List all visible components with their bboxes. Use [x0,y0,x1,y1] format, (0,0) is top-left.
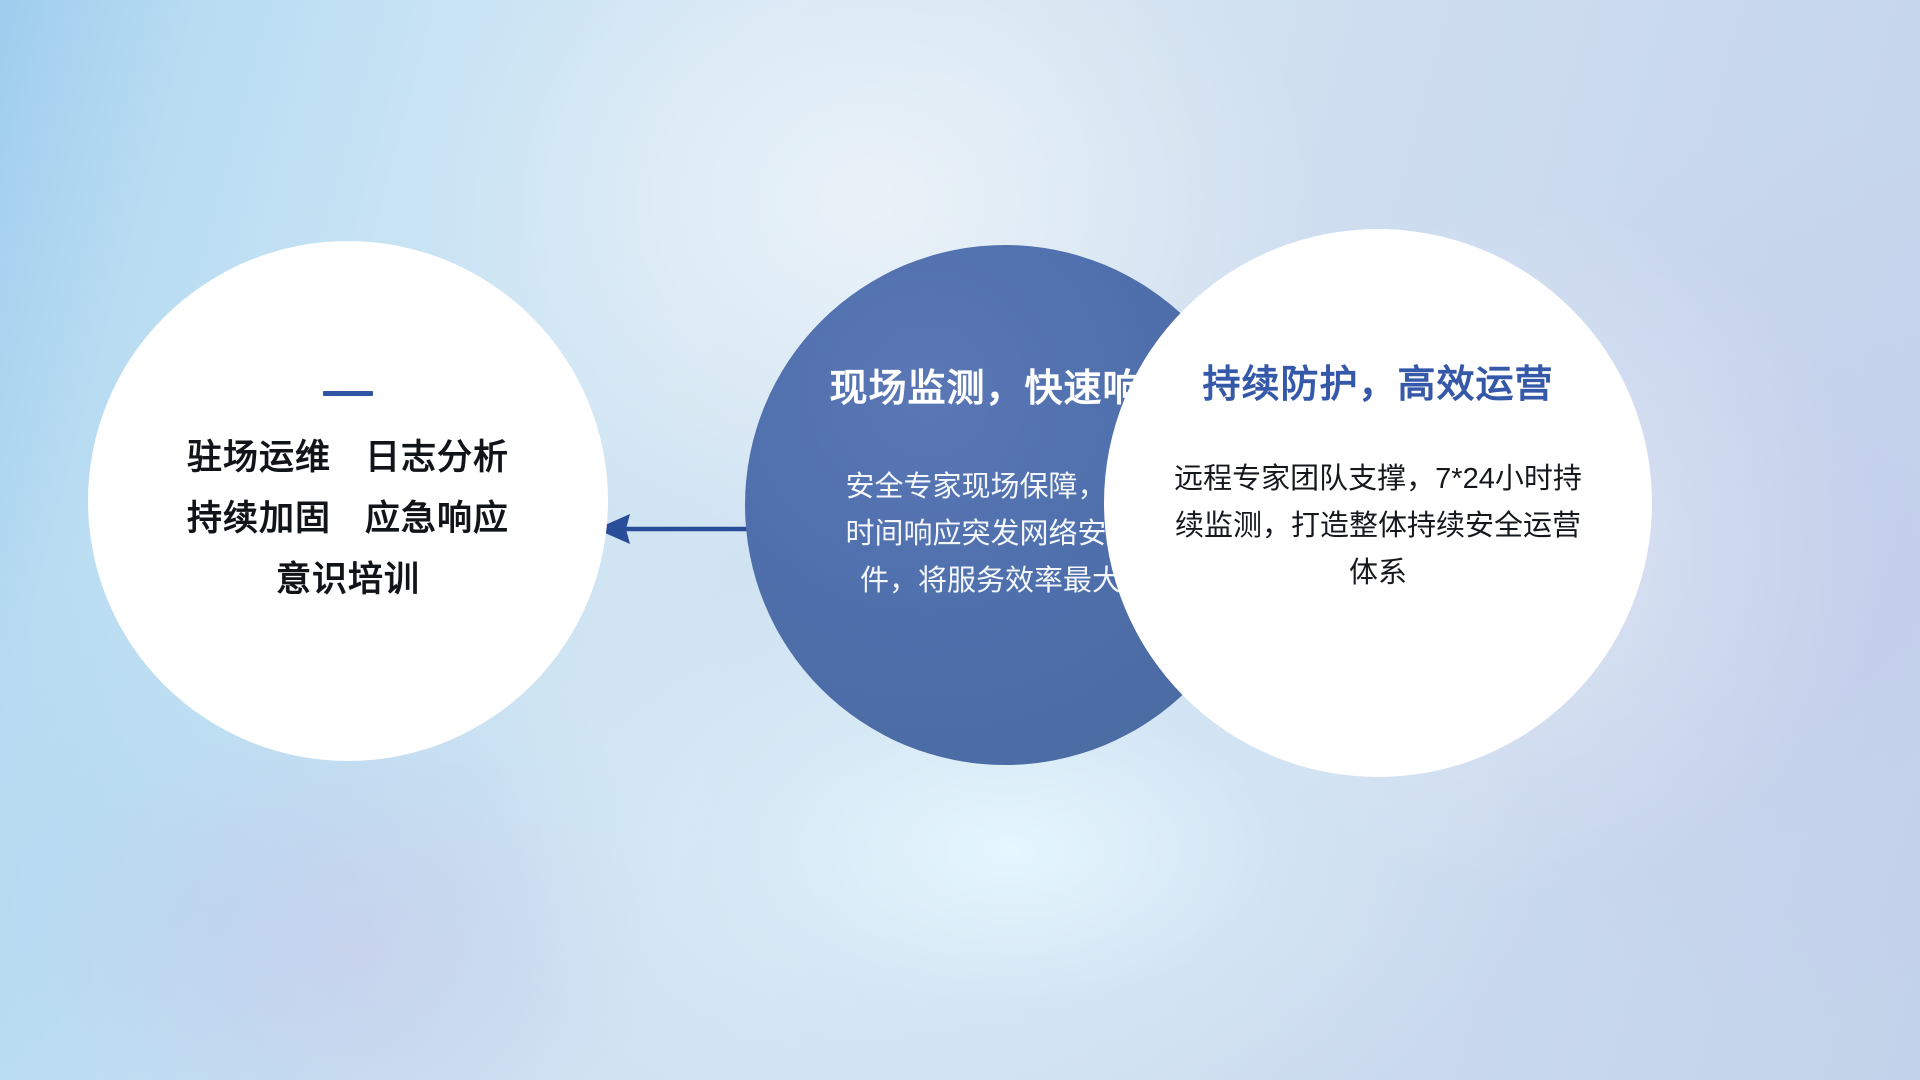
continuous-protection-circle: 持续防护，高效运营 远程专家团队支撑，7*24小时持续监测，打造整体持续安全运营… [1104,229,1652,777]
keyword-item: 意识培训 [276,562,420,597]
slide-canvas: 驻场运维 日志分析 持续加固 应急响应 意识培训 现场监测，快速响应 安全专家现… [0,0,1920,1080]
title-divider-dash [323,391,373,396]
keyword-item: 持续加固 [187,501,331,536]
capability-keyword-list: 驻场运维 日志分析 持续加固 应急响应 意识培训 [187,440,509,597]
keyword-row: 持续加固 应急响应 [187,501,509,536]
keyword-item: 日志分析 [365,440,509,475]
capability-keywords-circle: 驻场运维 日志分析 持续加固 应急响应 意识培训 [88,241,608,761]
background-glow-mauve-lower-left [40,720,660,1080]
keyword-item: 应急响应 [365,501,509,536]
continuous-protection-body: 远程专家团队支撑，7*24小时持续监测，打造整体持续安全运营体系 [1168,456,1588,597]
continuous-protection-title: 持续防护，高效运营 [1202,353,1553,408]
keyword-row: 意识培训 [187,562,509,597]
keyword-item: 驻场运维 [187,440,331,475]
keyword-row: 驻场运维 日志分析 [187,440,509,475]
